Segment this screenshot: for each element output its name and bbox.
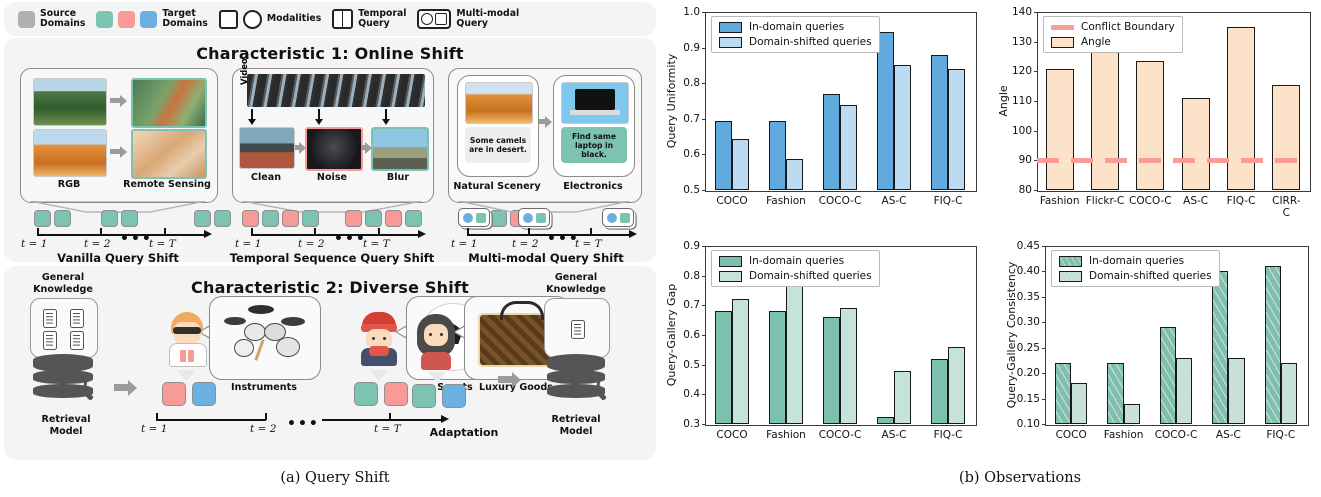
thumb-rgb-forest — [33, 78, 107, 126]
y-axis-tick — [1042, 246, 1046, 247]
caption-box-laptop: Find same laptop in black. — [561, 127, 627, 163]
legend-label: Conflict Boundary — [1081, 21, 1175, 33]
legend-swatch — [1059, 256, 1082, 267]
x-axis-tick-label: Fashion — [766, 195, 806, 207]
left-retrieval-model-label: Retrieval Model — [18, 414, 114, 438]
legend-entry: In-domain queries — [719, 21, 872, 33]
caption-b: (b) Observations — [880, 470, 1160, 486]
multimodal-token — [602, 208, 634, 227]
chart-query-gallery-gap: 0.30.40.50.60.70.80.9Query-Gallery GapCO… — [658, 236, 988, 468]
timeline-label-2-tT: t = T — [363, 238, 390, 250]
multimodal-query-shift-caption: Multi-modal Query Shift — [440, 251, 652, 265]
y-axis-tick — [702, 48, 706, 49]
label-natural-scenery: Natural Scenery — [451, 181, 543, 192]
legend-entry: In-domain queries — [719, 255, 872, 267]
label-rgb: RGB — [33, 179, 105, 190]
timeline-label-3-tT: t = T — [575, 238, 602, 250]
legend-entry: Conflict Boundary — [1051, 21, 1175, 33]
multimodal-token — [518, 208, 550, 227]
bar-fashion-1 — [786, 159, 803, 190]
y-axis-tick — [1042, 424, 1046, 425]
x-axis-tick-label: COCO — [716, 195, 747, 207]
bar-coco-1 — [1071, 383, 1087, 424]
label-blur: Blur — [371, 172, 425, 183]
legend-item-target-domains: Target Domains — [96, 9, 207, 29]
x-axis-tick-label: COCO — [1056, 429, 1087, 441]
avatar-instruments — [164, 312, 210, 374]
legend-label: In-domain queries — [749, 255, 844, 267]
bar-as-c-0 — [877, 32, 894, 190]
chart-query-uniformity: 0.50.60.70.80.91.0Query UniformityCOCOFa… — [658, 2, 988, 234]
electronics-group: Find same laptop in black. — [553, 75, 635, 177]
label-remote-sensing: Remote Sensing — [121, 179, 213, 190]
legend-swatch — [719, 256, 742, 267]
x-axis-tick-label: FIQ-C — [1227, 195, 1256, 207]
y-axis-tick — [1042, 297, 1046, 298]
legend-label: Domain-shifted queries — [749, 36, 872, 48]
x-axis-tick-label: COCO-C — [1155, 429, 1198, 441]
multi-modal-card: Some camels are in desert. Find same lap… — [448, 68, 642, 203]
y-axis-tick — [702, 190, 706, 191]
temporal-sequence-card: Video Clean Noise Blur — [232, 68, 434, 203]
thumb-noise — [305, 127, 363, 171]
token-row-step-3 — [412, 384, 466, 408]
bar-flickr-c-0 — [1091, 52, 1119, 190]
gray-square-icon — [18, 11, 35, 28]
bar-fiq-c-0 — [931, 359, 948, 424]
timeline-label-3-t2: t = 2 — [512, 238, 538, 250]
text-laptop: Find same laptop in black. — [561, 132, 627, 159]
text-camels: Some camels are in desert. — [469, 136, 527, 154]
bar-coco-1 — [732, 299, 749, 424]
bar-as-c-1 — [894, 65, 911, 190]
x-axis-tick-label: Flickr-C — [1086, 195, 1125, 207]
characteristic-1-panel: Characteristic 1: Online Shift RGB Remot… — [4, 38, 656, 262]
bar-as-c-1 — [894, 371, 911, 424]
adaptation-label: Adaptation — [419, 426, 509, 439]
x-axis-tick-label: COCO-C — [819, 429, 862, 441]
bar-fiq-c-1 — [948, 347, 965, 424]
chart-legend: Conflict BoundaryAngle — [1043, 16, 1183, 53]
bar-coco-c-0 — [823, 94, 840, 190]
legend-label: Domain-shifted queries — [1089, 270, 1212, 282]
chart-legend: In-domain queriesDomain-shifted queries — [711, 16, 880, 53]
y-axis-tick — [1034, 12, 1038, 13]
legend-entry: Angle — [1051, 36, 1175, 48]
y-axis-label: Query-Gallery Consistency — [1005, 246, 1018, 424]
thumb-blur — [371, 127, 429, 171]
bar-fiq-c-0 — [931, 55, 948, 190]
bar-coco-c-1 — [840, 105, 857, 190]
avatar-sports — [356, 312, 404, 374]
legend-label: Domain-shifted queries — [749, 270, 872, 282]
bar-coco-c-1 — [840, 308, 857, 424]
legend-item-temporal-query: Temporal Query — [332, 9, 406, 29]
thumb-rgb-desert — [33, 129, 107, 177]
bar-fiq-c-0 — [1227, 27, 1255, 190]
y-axis-tick — [1034, 42, 1038, 43]
bar-as-c-0 — [877, 417, 894, 424]
y-axis-tick — [702, 246, 706, 247]
x-axis-tick-label: FIQ-C — [934, 429, 963, 441]
y-axis-tick — [1042, 271, 1046, 272]
bar-coco-0 — [1055, 363, 1071, 424]
y-axis-tick — [1034, 190, 1038, 191]
y-axis-tick — [702, 305, 706, 306]
y-axis-label: Query-Gallery Gap — [665, 246, 678, 424]
y-axis-tick — [1042, 399, 1046, 400]
left-general-knowledge-label: General Knowledge — [18, 272, 108, 296]
legend-bar: Source Domains Target Domains Modalities… — [4, 2, 656, 36]
legend-swatch — [719, 22, 742, 33]
left-search-icon — [56, 366, 100, 410]
multimodal-token — [458, 208, 490, 227]
y-axis-tick — [702, 119, 706, 120]
y-axis-tick — [702, 394, 706, 395]
x-axis-tick-label: FIQ-C — [1266, 429, 1295, 441]
circle-square-capsule-icon — [417, 9, 451, 29]
left-knowledge-card — [30, 298, 98, 358]
figure-root: Source Domains Target Domains Modalities… — [0, 0, 1321, 497]
x-axis-tick-label: AS-C — [1216, 429, 1241, 441]
y-axis-tick — [702, 12, 706, 13]
bar-coco-1 — [732, 139, 749, 190]
c2-timeline-seg-2 — [322, 419, 442, 421]
temporal-query-shift-caption: Temporal Sequence Query Shift — [214, 251, 450, 265]
y-axis-label: Angle — [997, 12, 1010, 190]
y-axis-tick — [702, 276, 706, 277]
bar-fiq-c-1 — [1281, 363, 1297, 424]
legend-swatch — [719, 271, 742, 282]
video-filmstrip — [247, 74, 425, 107]
instruments-image — [218, 303, 312, 365]
bar-coco-0 — [715, 121, 732, 190]
thumb-remote-sensing-2 — [131, 129, 207, 179]
bar-as-c-1 — [1228, 358, 1244, 424]
bar-fashion-0 — [1107, 363, 1123, 424]
timeline-label-2-t1: t = 1 — [235, 238, 261, 250]
c2-time-label-t1: t = 1 — [141, 423, 167, 435]
teal-square-icon — [96, 11, 113, 28]
chart-angle: 8090100110120130140AngleFashionFlickr-CC… — [990, 2, 1320, 234]
bar-fiq-c-0 — [1265, 266, 1281, 424]
x-axis-tick-label: Fashion — [766, 429, 806, 441]
legend-swatch — [1059, 271, 1082, 282]
y-axis-tick — [702, 154, 706, 155]
token-row-multimodal — [458, 208, 634, 227]
circle-icon — [243, 10, 262, 29]
x-axis-tick-label: Fashion — [1040, 195, 1080, 207]
token-row-step-1 — [162, 382, 216, 406]
legend-item-modalities: Modalities — [219, 10, 321, 29]
bar-fashion-1 — [786, 282, 803, 424]
bar-coco-0 — [715, 311, 732, 424]
x-axis-tick-label: FIQ-C — [934, 195, 963, 207]
split-square-icon — [332, 9, 353, 29]
legend-item-multi-modal-query: Multi-modal Query — [417, 9, 519, 29]
bar-coco-c-0 — [823, 317, 840, 424]
bar-fashion-1 — [1124, 404, 1140, 424]
right-search-icon — [569, 366, 613, 410]
x-axis-tick-label: AS-C — [1183, 195, 1208, 207]
vanilla-query-shift-caption: Vanilla Query Shift — [14, 251, 222, 265]
bar-coco-c-1 — [1176, 358, 1192, 424]
thumb-laptop — [561, 82, 629, 124]
legend-label-temporal-query: Temporal Query — [358, 9, 406, 29]
c2-time-label-tT: t = T — [374, 423, 401, 435]
bar-fiq-c-1 — [948, 69, 965, 190]
right-retrieval-model-label: Retrieval Model — [526, 414, 626, 438]
label-electronics: Electronics — [549, 181, 637, 192]
token-row-vanilla — [34, 210, 231, 227]
x-axis-tick-label: AS-C — [882, 195, 907, 207]
y-axis-tick — [702, 365, 706, 366]
y-axis-tick — [1042, 348, 1046, 349]
timeline-label-3-t1: t = 1 — [451, 238, 477, 250]
y-axis-tick — [1034, 101, 1038, 102]
bar-fashion-0 — [769, 311, 786, 424]
legend-label: In-domain queries — [1089, 255, 1184, 267]
x-axis-tick-label: Fashion — [1104, 429, 1144, 441]
chart-legend: In-domain queriesDomain-shifted queries — [1051, 250, 1220, 287]
y-axis-label: Query Uniformity — [665, 12, 678, 190]
legend-label: In-domain queries — [749, 21, 844, 33]
avatar-luxury — [412, 314, 462, 376]
bar-coco-c-0 — [1136, 61, 1164, 190]
x-axis-tick-label: COCO-C — [1129, 195, 1172, 207]
legend-swatch — [719, 37, 742, 48]
right-knowledge-card — [544, 298, 610, 358]
x-axis-tick-label: COCO-C — [819, 195, 862, 207]
legend-item-source-domains: Source Domains — [18, 9, 85, 29]
legend-entry: Domain-shifted queries — [719, 270, 872, 282]
legend-swatch-dashed — [1051, 25, 1074, 30]
legend-entry: Domain-shifted queries — [1059, 270, 1212, 282]
bar-as-c-0 — [1212, 271, 1228, 424]
natural-scenery-group: Some camels are in desert. — [457, 75, 539, 177]
caption-box-camels: Some camels are in desert. — [465, 127, 531, 163]
characteristic-1-title: Characteristic 1: Online Shift — [4, 44, 656, 63]
bar-fashion-0 — [1046, 69, 1074, 190]
pink-square-icon — [118, 11, 135, 28]
c2-timeline-seg-1 — [156, 419, 266, 421]
thumb-clean — [239, 127, 295, 169]
right-general-knowledge-label: General Knowledge — [526, 272, 626, 296]
conflict-boundary-line — [1037, 158, 1309, 163]
legend-label-modalities: Modalities — [267, 14, 321, 24]
y-axis-tick — [1034, 71, 1038, 72]
chart-legend: In-domain queriesDomain-shifted queries — [711, 250, 880, 287]
timeline-label-1-t2: t = 2 — [84, 238, 110, 250]
legend-label-source-domains: Source Domains — [40, 9, 85, 29]
y-axis-tick — [1034, 131, 1038, 132]
y-axis-tick — [1042, 373, 1046, 374]
y-axis-tick — [1042, 322, 1046, 323]
blue-square-icon — [140, 11, 157, 28]
bar-cirr-c-0 — [1272, 85, 1300, 190]
panel-query-shift: Source Domains Target Domains Modalities… — [4, 2, 656, 464]
legend-label-target-domains: Target Domains — [162, 9, 207, 29]
bubble-instruments — [209, 296, 321, 380]
bar-coco-c-0 — [1160, 327, 1176, 424]
panel-observations: 0.50.60.70.80.91.0Query UniformityCOCOFa… — [658, 0, 1321, 466]
legend-entry: Domain-shifted queries — [719, 36, 872, 48]
token-row-step-2 — [354, 382, 408, 406]
label-clean: Clean — [239, 172, 293, 183]
thumb-remote-sensing-1 — [131, 78, 207, 128]
legend-label: Angle — [1081, 36, 1111, 48]
legend-label-multi-modal-query: Multi-modal Query — [456, 9, 519, 29]
bar-fashion-0 — [769, 121, 786, 190]
timeline-label-2-t2: t = 2 — [298, 238, 324, 250]
y-axis-tick — [702, 424, 706, 425]
vanilla-query-shift-card: RGB Remote Sensing — [20, 68, 218, 203]
caption-a: (a) Query Shift — [170, 470, 500, 486]
thumb-desert — [465, 82, 533, 124]
x-axis-tick-label: AS-C — [882, 429, 907, 441]
y-axis-tick — [702, 335, 706, 336]
chart-query-gallery-consistency: 0.100.150.200.250.300.350.400.45Query-Ga… — [990, 236, 1320, 468]
bar-as-c-0 — [1182, 98, 1210, 190]
x-axis-tick-label: COCO — [716, 429, 747, 441]
characteristic-2-panel: Characteristic 2: Diverse Shift General … — [4, 266, 656, 460]
legend-entry: In-domain queries — [1059, 255, 1212, 267]
timeline-label-1-t1: t = 1 — [21, 238, 47, 250]
square-icon — [219, 10, 238, 29]
label-noise: Noise — [305, 172, 359, 183]
c2-time-label-t2: t = 2 — [250, 423, 276, 435]
legend-swatch — [1051, 37, 1074, 48]
timeline-label-1-tT: t = T — [149, 238, 176, 250]
topic-label-instruments: Instruments — [209, 382, 319, 393]
y-axis-tick — [702, 83, 706, 84]
x-axis-tick-label: CIRR-C — [1269, 195, 1303, 219]
